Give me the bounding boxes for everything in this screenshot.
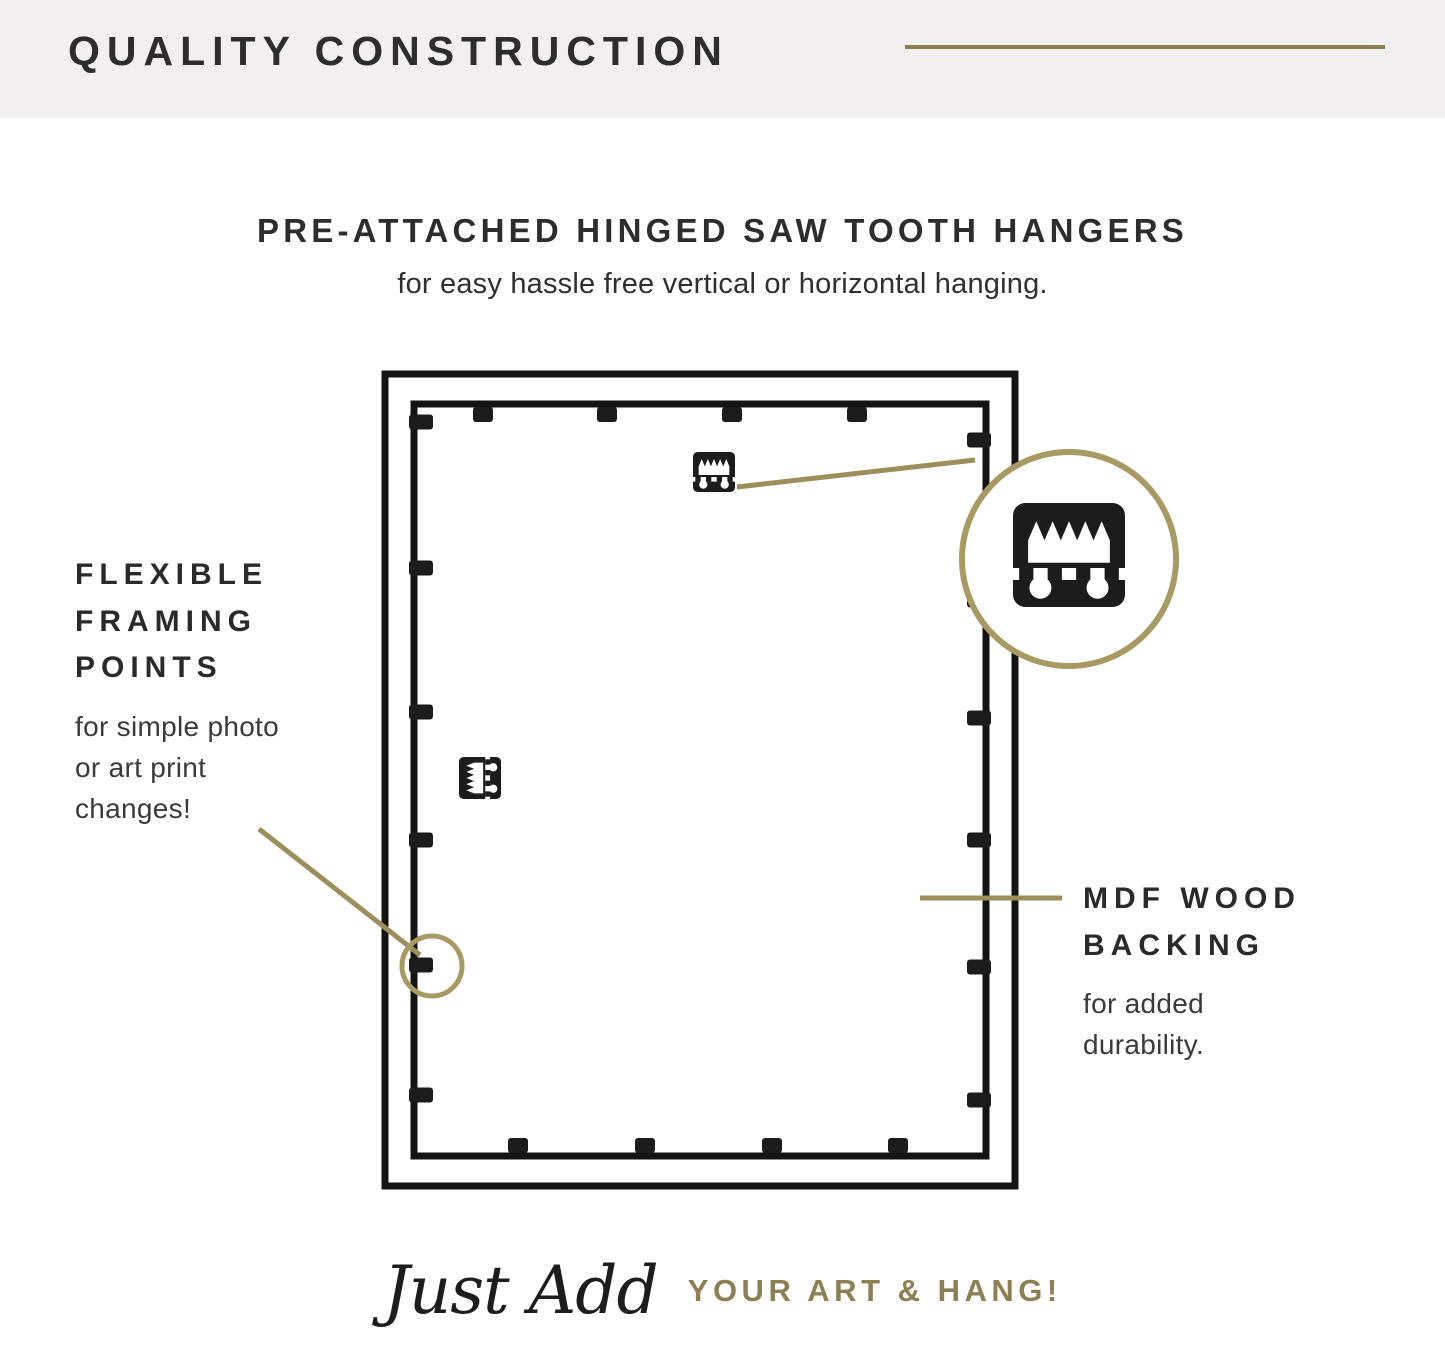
framing-point-tab: [967, 960, 991, 975]
hanger-screw-hole: [1087, 577, 1109, 599]
framing-point-tab: [409, 958, 433, 973]
hanger-screw-hole: [489, 763, 497, 771]
hanger-hinge-knuckle: [717, 477, 722, 482]
hanger-screw-hole: [489, 785, 497, 793]
sawtooth-hanger-icon: [693, 452, 735, 492]
framing-point-tab: [409, 1088, 433, 1103]
sawtooth-hanger-magnified-icon: [1013, 503, 1125, 607]
framing-point-tab: [762, 1138, 782, 1153]
leader-line-framing-points: [259, 829, 420, 955]
framing-point-tab: [473, 407, 493, 422]
framing-point-tab: [967, 833, 991, 848]
footer-tagline: Just AddYOUR ART & HANG!: [0, 1252, 1445, 1329]
hanger-hinge-knuckle: [1076, 568, 1090, 580]
framing-point-tab: [967, 711, 991, 726]
framing-point-tab: [597, 407, 617, 422]
hanger-hinge-knuckle: [706, 477, 711, 482]
hanger-hinge-knuckle: [485, 770, 490, 775]
footer-script-text: Just Add: [383, 1252, 658, 1329]
hanger-screw-hole: [1029, 577, 1051, 599]
hanger-hinge-knuckle: [485, 759, 490, 764]
side-hinge-icon: [459, 757, 501, 799]
frame-back-diagram: [0, 0, 1445, 1359]
framing-point-tab: [409, 833, 433, 848]
hanger-hinge-knuckle: [727, 477, 732, 482]
hanger-hinge-knuckle: [1048, 568, 1062, 580]
hanger-screw-hole: [721, 480, 729, 488]
framing-point-tab: [847, 407, 867, 422]
hanger-hinge-knuckle: [485, 781, 490, 786]
hanger-hinge-knuckle: [485, 791, 490, 796]
framing-point-tab: [722, 407, 742, 422]
hanger-hinge-knuckle: [1019, 568, 1033, 580]
footer-caps-text: YOUR ART & HANG!: [688, 1273, 1062, 1308]
framing-point-tab: [967, 433, 991, 448]
framing-point-tab: [508, 1138, 528, 1153]
framing-point-tab: [409, 561, 433, 576]
framing-point-tab: [409, 415, 433, 430]
hanger-screw-hole: [699, 480, 707, 488]
framing-point-tab: [967, 1093, 991, 1108]
framing-point-tab: [635, 1138, 655, 1153]
hanger-hinge-knuckle: [695, 477, 700, 482]
framing-point-tab: [409, 705, 433, 720]
framing-point-tab: [888, 1138, 908, 1153]
hanger-hinge-knuckle: [1105, 568, 1119, 580]
